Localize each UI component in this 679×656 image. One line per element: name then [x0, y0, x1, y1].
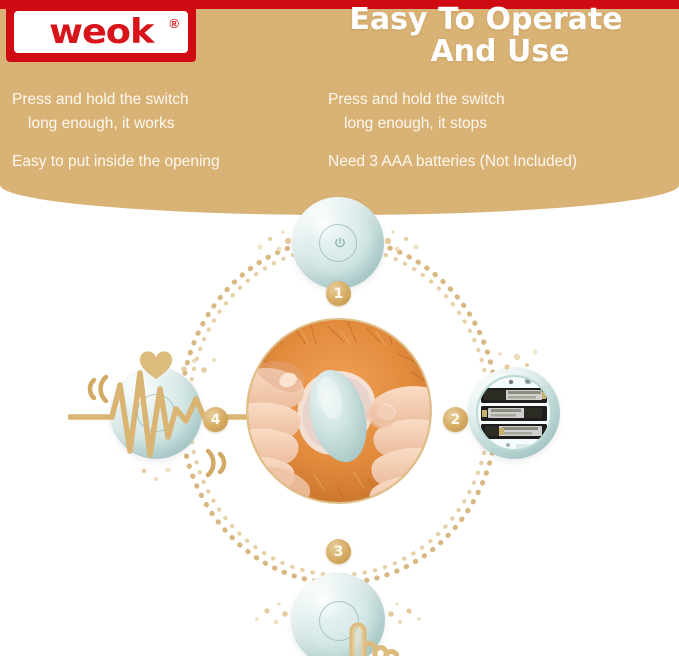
switch-button-icon[interactable]	[319, 601, 359, 641]
weok-logo: weok ®	[6, 2, 196, 62]
step-3-badge: 3	[326, 539, 351, 564]
power-button-icon[interactable]	[319, 224, 357, 262]
infographic-page: weok ® Easy To Operate And Use Press and…	[0, 0, 679, 656]
registered-mark-icon: ®	[169, 16, 179, 31]
tips-column-left: Press and hold the switch long enough, i…	[12, 88, 322, 174]
header-band: weok ® Easy To Operate And Use Press and…	[0, 0, 679, 215]
steps-stage: 1	[0, 185, 679, 656]
battery-compartment-icon	[468, 367, 560, 459]
logo-wordmark: weok	[49, 15, 153, 49]
step-2-badge: 2	[443, 407, 468, 432]
step-4-device-ball	[110, 367, 202, 459]
title-line-1: Easy To Operate	[349, 2, 622, 37]
tip-right-1-line2: long enough, it stops	[328, 112, 673, 136]
tip-left-1-line1: Press and hold the switch	[12, 88, 322, 112]
tips-column-right: Press and hold the switch long enough, i…	[328, 88, 673, 174]
page-title: Easy To Operate And Use	[300, 4, 672, 69]
step-1-badge: 1	[326, 281, 351, 306]
title-line-2: And Use	[300, 36, 672, 68]
step-2-device-ball	[468, 367, 560, 459]
photo-illustration	[248, 320, 430, 502]
step-4-button-ring-icon	[137, 394, 175, 432]
tip-left-1-line2: long enough, it works	[12, 112, 322, 136]
step-1-device-ball	[292, 197, 384, 289]
tip-right-1-line1: Press and hold the switch	[328, 88, 673, 112]
step-3-device-ball	[291, 573, 385, 656]
tip-right-2-line1: Need 3 AAA batteries (Not Included)	[328, 150, 673, 174]
logo-inner-plate: weok ®	[12, 9, 190, 55]
tip-left-2-line1: Easy to put inside the opening	[12, 150, 322, 174]
step-4-badge: 4	[203, 407, 228, 432]
insert-device-photo	[248, 320, 430, 502]
